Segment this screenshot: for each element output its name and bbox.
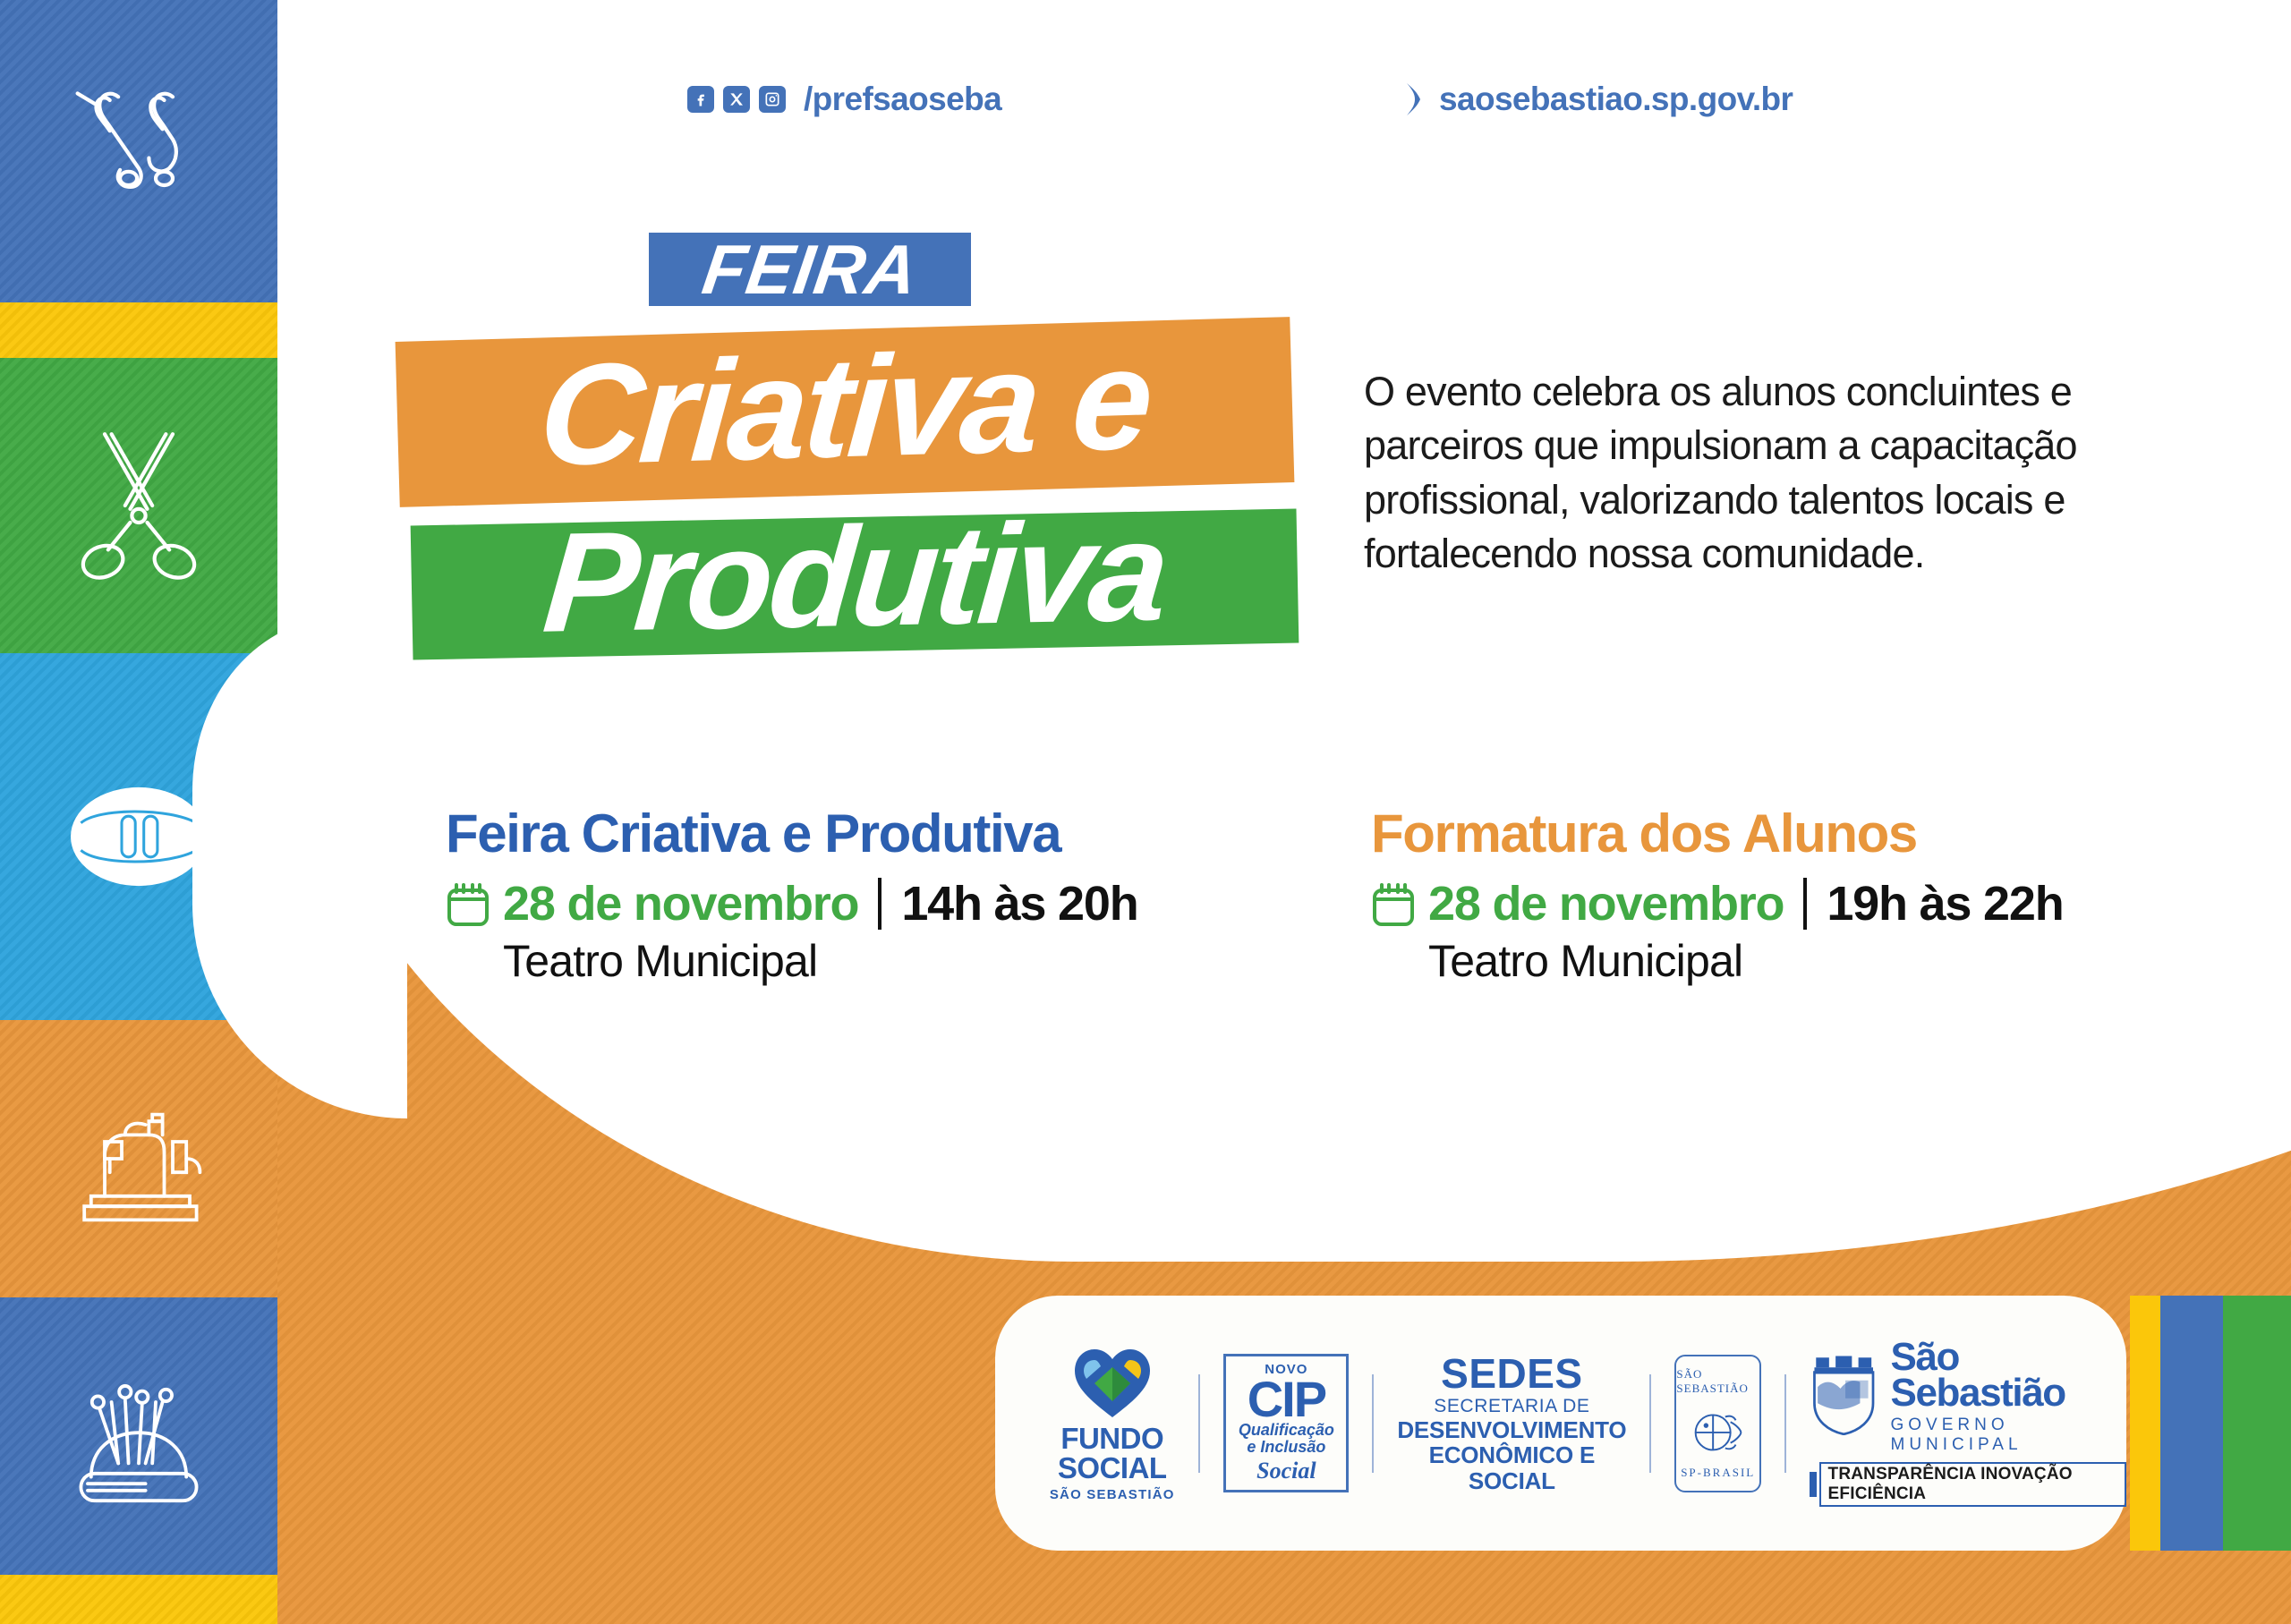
coat-of-arms-icon [1810,1351,1878,1444]
sewing-machine-icon [54,1074,224,1244]
seal-top-text: SÃO SEBASTIÃO [1676,1367,1759,1396]
prefeitura-name2: Sebastião [1891,1375,2126,1411]
footer-logo-panel: FUNDO SOCIAL SÃO SEBASTIÃO NOVO CIP Qual… [995,1296,2126,1551]
instagram-icon[interactable] [759,86,786,113]
footer-bar-green [2223,1296,2291,1551]
prefeitura-subtitle: GOVERNO MUNICIPAL [1891,1416,2126,1455]
footer-bar-blue [2160,1296,2223,1551]
city-seal-logo: SÃO SEBASTIÃO SP-BRASIL [1674,1355,1761,1492]
divider [1198,1374,1200,1473]
slogan-bar-accent [1810,1472,1817,1497]
sidebar-segment-sewing-machine [0,1020,277,1297]
prefeitura-logo: São Sebastião GOVERNO MUNICIPAL TRANSPAR… [1810,1339,2126,1508]
fundo-social-line3: SÃO SEBASTIÃO [1050,1487,1175,1502]
calendar-icon [1371,880,1416,928]
sedes-acronym: SEDES [1441,1353,1582,1394]
prefeitura-slogan: TRANSPARÊNCIA INOVAÇÃO EFICIÊNCIA [1819,1462,2126,1507]
event-date: 28 de novembro [1428,876,1784,931]
fundo-social-logo: FUNDO SOCIAL SÃO SEBASTIÃO [1049,1344,1175,1501]
sidebar-segment-yellow [0,302,277,358]
event-card-feira: Feira Criativa e Produtiva 28 de novembr… [446,805,1251,987]
cip-sub1: Qualificação [1239,1422,1334,1439]
event-datetime-row: 28 de novembro 14h às 20h [446,876,1251,931]
social-handle-group[interactable]: /prefsaoseba [687,86,1001,113]
sidebar-segment-yellow-bottom [0,1575,277,1624]
footer-bar-yellow [2130,1296,2160,1551]
hero-line-criativa: Criativa e [396,317,1295,507]
scissors-icon [54,421,224,591]
event-card-formatura: Formatura dos Alunos 28 de novembro 19h … [1371,805,2194,987]
sidebar-segment-pincushion [0,1297,277,1575]
divider [1372,1374,1374,1473]
event-description: O evento celebra os alunos concluintes e… [1364,365,2169,581]
event-datetime-row: 28 de novembro 19h às 22h [1371,876,2194,931]
sedes-line3: ECONÔMICO E SOCIAL [1397,1442,1626,1492]
facebook-icon[interactable] [687,86,714,113]
fundo-social-line2: SOCIAL [1058,1453,1167,1483]
fish-emblem-icon [1683,1396,1753,1466]
heart-logo-icon [1071,1344,1154,1419]
event-separator [1803,878,1807,930]
cip-sub2: e Inclusão [1247,1439,1325,1456]
prefeitura-name1: São [1891,1339,2126,1375]
sedes-line2: DESENVOLVIMENTO [1397,1417,1626,1442]
website-url: saosebastiao.sp.gov.br [1439,81,1793,118]
safety-pins-icon [54,66,224,236]
fundo-social-line1: FUNDO [1060,1424,1163,1452]
divider [1784,1374,1786,1473]
cip-acronym: CIP [1248,1377,1325,1422]
calendar-icon [446,880,490,928]
event-title: Formatura dos Alunos [1371,805,2194,862]
poster-canvas: /prefsaoseba saosebastiao.sp.gov.br FEIR… [0,0,2291,1624]
event-separator [878,878,881,930]
hero-line-feira: FEIRA [649,233,971,306]
hero-title: FEIRA Criativa e Produtiva [385,224,1324,644]
cip-logo: NOVO CIP Qualificação e Inclusão Social [1223,1354,1349,1492]
header: /prefsaoseba saosebastiao.sp.gov.br [322,86,2112,140]
event-date: 28 de novembro [503,876,858,931]
chevron-right-icon [1403,81,1427,117]
event-time: 19h às 22h [1827,876,2063,931]
website-group[interactable]: saosebastiao.sp.gov.br [1403,81,1793,118]
divider [1649,1374,1651,1473]
social-handle-text: /prefsaoseba [804,86,1001,113]
seal-bottom-text: SP-BRASIL [1681,1466,1755,1480]
event-place: Teatro Municipal [503,935,1251,987]
hero-line-feira-text: FEIRA [697,229,923,310]
event-title: Feira Criativa e Produtiva [446,805,1251,862]
sidebar-segment-scissors [0,358,277,653]
hero-line-criativa-text: Criativa e [534,316,1155,497]
sidebar-segment-pins [0,0,277,302]
event-time: 14h às 20h [901,876,1137,931]
cip-sub3: Social [1256,1458,1316,1484]
sedes-logo: SEDES SECRETARIA DE DESENVOLVIMENTO ECON… [1397,1353,1626,1492]
event-place: Teatro Municipal [1428,935,2194,987]
hero-line-produtiva-text: Produtiva [538,490,1171,665]
hero-line-produtiva: Produtiva [411,509,1299,660]
x-icon[interactable] [723,86,750,113]
sedes-line1: SECRETARIA DE [1434,1396,1589,1417]
pincushion-needles-icon [54,1351,224,1521]
